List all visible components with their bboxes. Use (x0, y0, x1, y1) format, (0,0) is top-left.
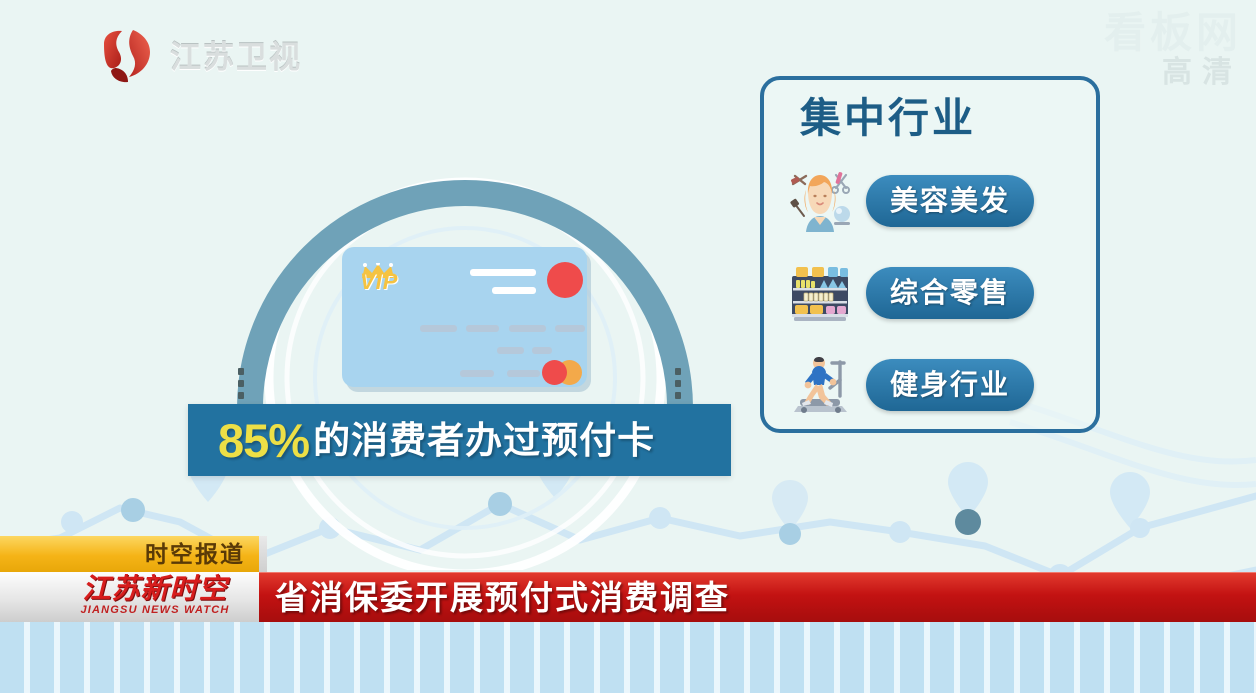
watermark-site: 看板网 (1104, 12, 1242, 54)
card-detail-block (497, 347, 524, 354)
industries-panel: 集中行业 (760, 76, 1100, 433)
industry-pill-retail[interactable]: 综合零售 (866, 267, 1034, 319)
section-tab-label: 时空报道 (145, 543, 245, 566)
bottom-stripe-pattern (0, 622, 1256, 693)
statistic-bar: 85% 的消费者办过预付卡 (188, 404, 731, 476)
panel-title: 集中行业 (800, 98, 976, 139)
industry-row-fitness: 健身行业 (788, 352, 1080, 418)
program-name-en: JIANGSU NEWS WATCH (62, 605, 248, 616)
channel-logo: 江苏卫视 (100, 26, 330, 88)
card-number-block (509, 325, 546, 332)
headline-bar: 省消保委开展预付式消费调查 (259, 572, 1256, 622)
tick-dots-icon-right (675, 368, 682, 404)
card-accent-circle-icon (547, 262, 583, 298)
card-number-block (555, 325, 585, 332)
industry-pill-fitness[interactable]: 健身行业 (866, 359, 1034, 411)
card-line (492, 287, 536, 294)
industry-label: 美容美发 (890, 187, 1010, 215)
industry-row-beauty: 美容美发 (788, 168, 1080, 234)
watermark-quality: 高清 (1104, 58, 1242, 88)
card-holder-block (507, 370, 540, 377)
card-logo-circles-icon (542, 360, 567, 385)
vip-label: VIP (360, 271, 398, 293)
program-name-cn: 江苏新时空 (62, 574, 248, 603)
industry-label: 健身行业 (890, 371, 1010, 399)
watermark: 看板网 高清 (1104, 12, 1242, 88)
treadmill-icon (788, 354, 852, 416)
section-tab[interactable]: 时空报道 (0, 536, 259, 572)
headline-text: 省消保委开展预付式消费调查 (275, 581, 730, 614)
card-holder-block (460, 370, 494, 377)
program-logo: 江苏新时空 JIANGSU NEWS WATCH (62, 574, 248, 622)
vip-card: VIP (342, 247, 587, 387)
retail-shelf-icon (788, 262, 852, 324)
statistic-text: 的消费者办过预付卡 (313, 422, 655, 459)
tick-dots-icon-left (238, 368, 245, 404)
card-line (470, 269, 536, 276)
beauty-salon-icon (788, 170, 852, 232)
statistic-number: 85% (218, 417, 309, 464)
industry-row-retail: 综合零售 (788, 260, 1080, 326)
card-number-block (466, 325, 499, 332)
card-number-block (420, 325, 457, 332)
broadcast-frame: 江苏卫视 看板网 高清 VIP (0, 0, 1256, 693)
card-detail-block (532, 347, 552, 354)
industry-pill-beauty[interactable]: 美容美发 (866, 175, 1034, 227)
industry-label: 综合零售 (890, 279, 1010, 307)
flame-mark-icon (100, 28, 160, 86)
channel-logo-text: 江苏卫视 (170, 42, 302, 73)
